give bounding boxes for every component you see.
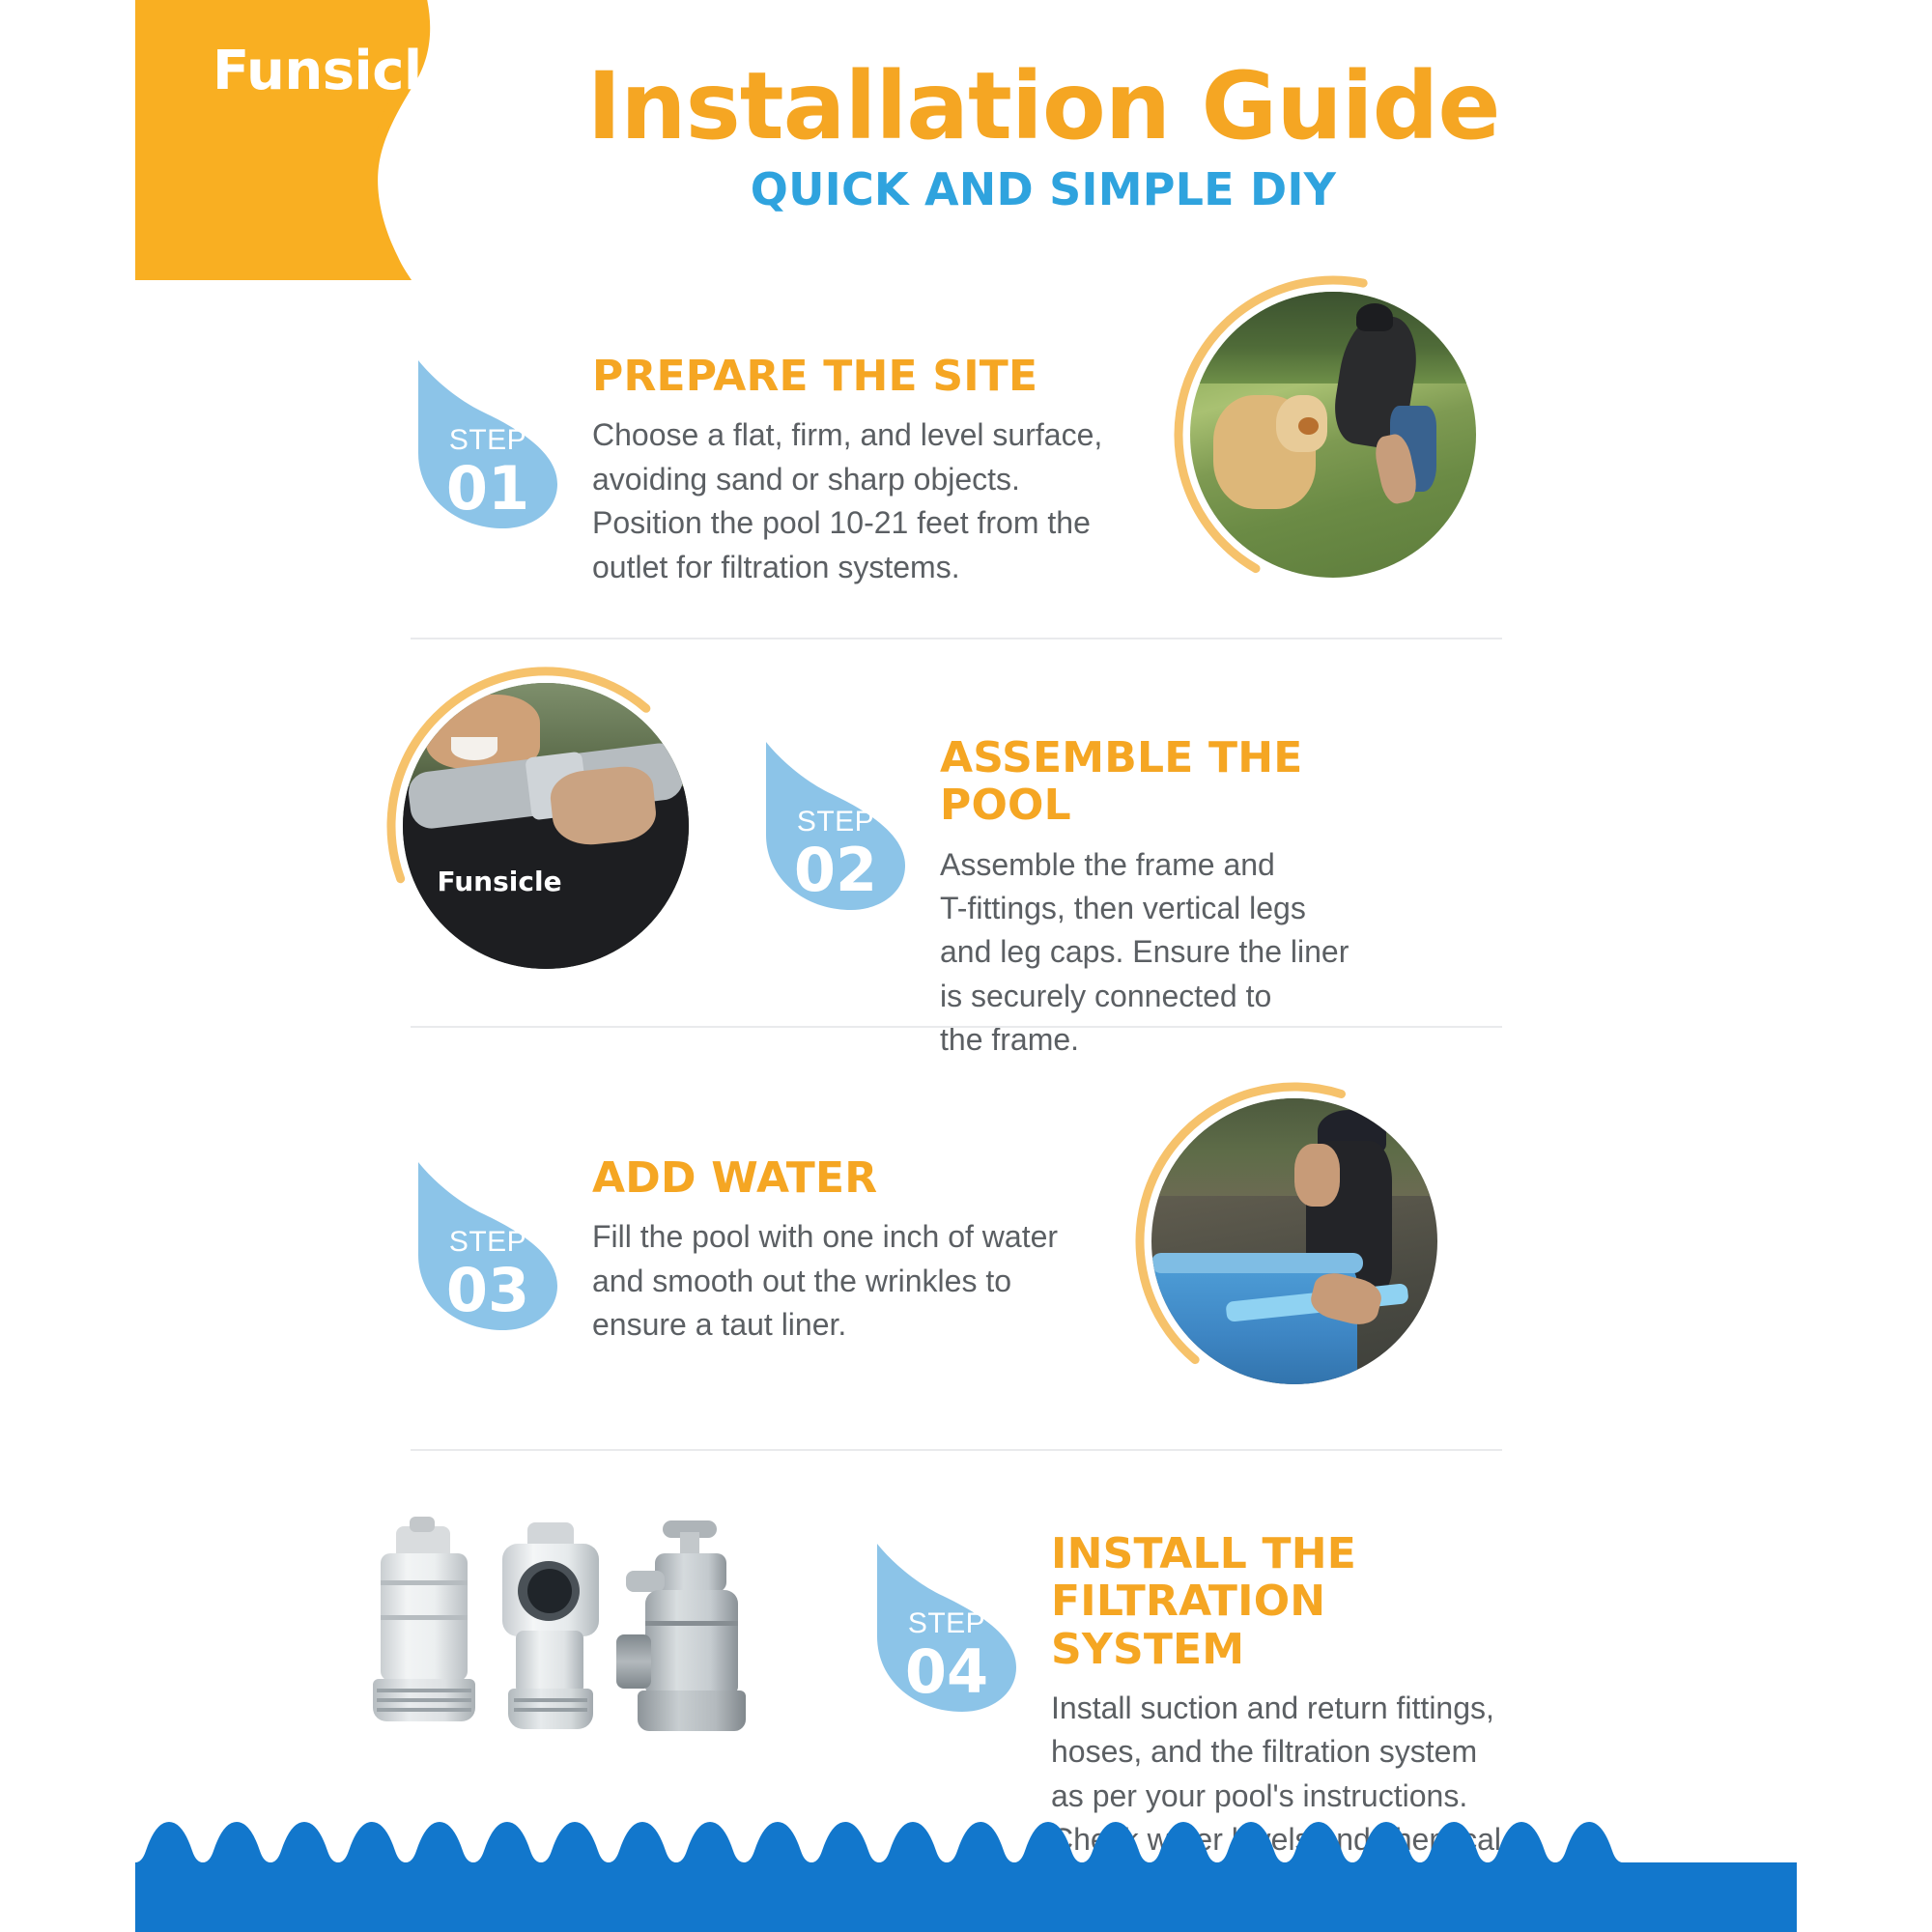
page-title: Installation Guide	[415, 58, 1671, 156]
installation-guide-page: Funsicle ® Installation Guide QUICK AND …	[0, 0, 1932, 1932]
step-heading: ADD WATER	[592, 1154, 1075, 1202]
section-divider-2	[411, 1026, 1502, 1028]
section-divider-1	[411, 638, 1502, 639]
step-02: STEP 02 ASSEMBLE THE POOL Assemble the f…	[758, 734, 1394, 1063]
registered-trademark-icon: ®	[461, 76, 472, 94]
step-number: 04	[869, 1636, 1024, 1707]
step-heading: ASSEMBLE THE POOL	[940, 734, 1394, 830]
step-label: STEP	[869, 1607, 1024, 1640]
step-label: STEP	[411, 424, 565, 457]
step-text-block: PREPARE THE SITE Choose a flat, firm, an…	[592, 353, 1094, 589]
step-label: STEP	[411, 1226, 565, 1259]
step-badge-droplet-icon: STEP 03	[411, 1154, 565, 1333]
section-divider-3	[411, 1449, 1502, 1451]
step-heading: PREPARE THE SITE	[592, 353, 1094, 400]
step-number: 02	[758, 835, 913, 905]
skimmer-pump-icon	[493, 1522, 604, 1735]
page-subtitle: QUICK AND SIMPLE DIY	[415, 163, 1671, 215]
step-01-photo	[1174, 275, 1492, 594]
cartridge-filter-pump-icon	[367, 1526, 483, 1734]
step-heading: INSTALL THE FILTRATION SYSTEM	[1051, 1530, 1505, 1673]
step-04-filtration-pumps-image	[357, 1517, 773, 1739]
step-body: Assemble the frame and T-fittings, then …	[940, 843, 1394, 1063]
funsicle-logo: Funsicle ®	[213, 44, 472, 99]
sand-filter-pump-icon	[616, 1520, 766, 1738]
step-body: Fill the pool with one inch of water and…	[592, 1215, 1075, 1347]
step-03: STEP 03 ADD WATER Fill the pool with one…	[411, 1154, 1075, 1348]
step-label: STEP	[758, 806, 913, 838]
bottom-wave-border	[135, 1806, 1797, 1932]
step-body: Choose a flat, firm, and level surface, …	[592, 413, 1094, 589]
title-block: Installation Guide QUICK AND SIMPLE DIY	[415, 58, 1671, 215]
step-02-photo: Funsicle	[386, 667, 705, 985]
step-text-block: ADD WATER Fill the pool with one inch of…	[592, 1154, 1075, 1348]
step-01: STEP 01 PREPARE THE SITE Choose a flat, …	[411, 353, 1094, 589]
step-badge-droplet-icon: STEP 04	[869, 1536, 1024, 1715]
step-number: 01	[411, 453, 565, 524]
step-03-photo	[1135, 1082, 1454, 1401]
step-badge-droplet-icon: STEP 02	[758, 734, 913, 913]
step-number: 03	[411, 1255, 565, 1325]
step-text-block: ASSEMBLE THE POOL Assemble the frame and…	[940, 734, 1394, 1063]
logo-wordmark: Funsicle	[213, 44, 458, 99]
step-badge-droplet-icon: STEP 01	[411, 353, 565, 531]
